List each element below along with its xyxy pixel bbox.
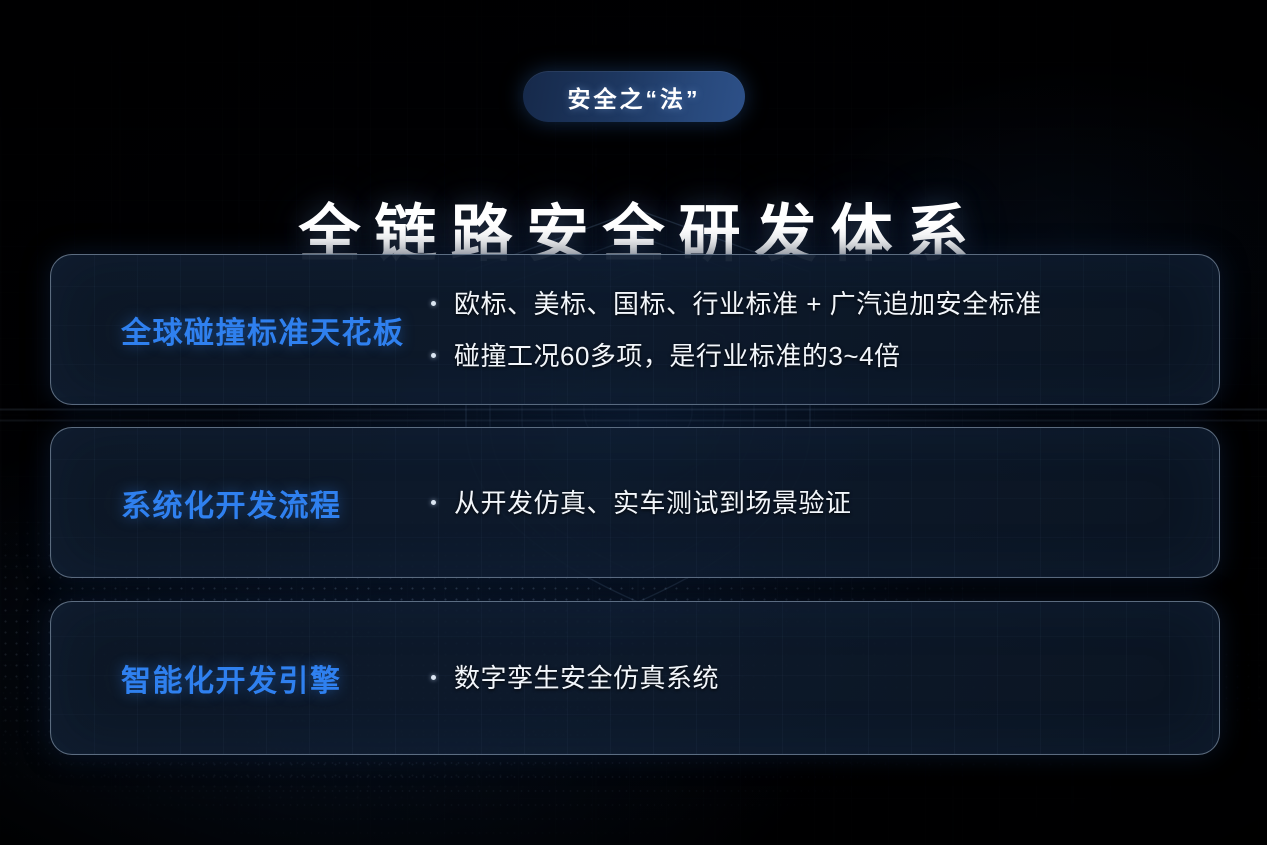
slide-canvas: 安全之“法” 全链路安全研发体系 全球碰撞标准天花板 欧标、美标、国标、行业标准… (0, 0, 1267, 845)
list-item: 从开发仿真、实车测试到场景验证 (431, 479, 1219, 527)
bullet-dot-icon (431, 675, 436, 680)
card-heading: 系统化开发流程 (51, 481, 421, 525)
list-item: 碰撞工况60多项，是行业标准的3~4倍 (431, 332, 1219, 380)
list-item-text: 欧标、美标、国标、行业标准 + 广汽追加安全标准 (454, 280, 1042, 328)
list-item-text: 从开发仿真、实车测试到场景验证 (454, 479, 852, 527)
card-bullet-list: 欧标、美标、国标、行业标准 + 广汽追加安全标准 碰撞工况60多项，是行业标准的… (421, 280, 1219, 380)
list-item-text: 碰撞工况60多项，是行业标准的3~4倍 (454, 332, 901, 380)
card-bullet-list: 从开发仿真、实车测试到场景验证 (421, 479, 1219, 527)
bullet-dot-icon (431, 353, 436, 358)
bullet-dot-icon (431, 301, 436, 306)
card-heading: 智能化开发引擎 (51, 656, 421, 700)
section-badge-label: 安全之“法” (568, 80, 701, 114)
content-card: 智能化开发引擎 数字孪生安全仿真系统 (50, 601, 1220, 755)
card-heading: 全球碰撞标准天花板 (51, 308, 421, 352)
section-badge: 安全之“法” (523, 71, 745, 122)
bullet-dot-icon (431, 500, 436, 505)
list-item-text: 数字孪生安全仿真系统 (454, 654, 719, 702)
content-card: 全球碰撞标准天花板 欧标、美标、国标、行业标准 + 广汽追加安全标准 碰撞工况6… (50, 254, 1220, 405)
list-item: 欧标、美标、国标、行业标准 + 广汽追加安全标准 (431, 280, 1219, 328)
card-bullet-list: 数字孪生安全仿真系统 (421, 654, 1219, 702)
list-item: 数字孪生安全仿真系统 (431, 654, 1219, 702)
content-card: 系统化开发流程 从开发仿真、实车测试到场景验证 (50, 427, 1220, 578)
